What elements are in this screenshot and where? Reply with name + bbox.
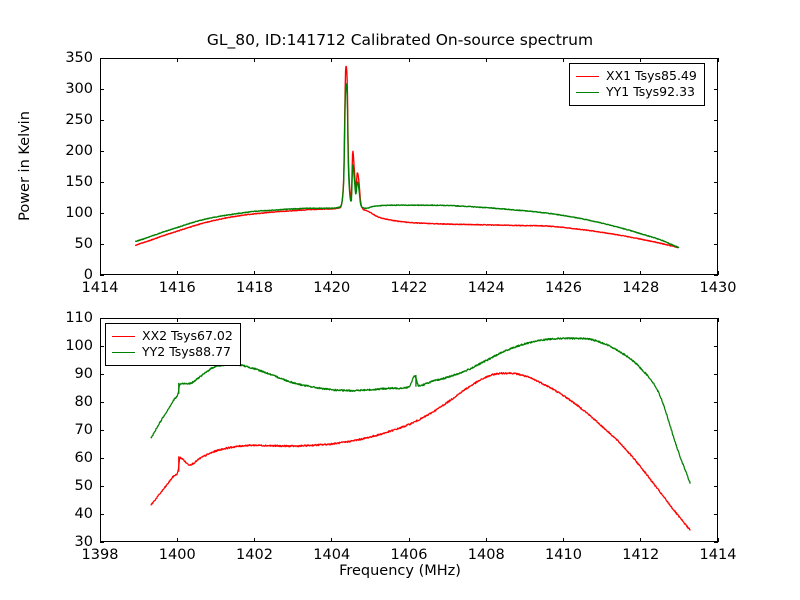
legend-entry[interactable]: YY2 Tsys88.77 [112, 344, 233, 360]
y-axis-tick [100, 346, 104, 347]
y-axis-tick [100, 182, 104, 183]
x-tick-label: 1414 [700, 547, 737, 563]
y-axis-tick [100, 244, 104, 245]
x-axis-tick [409, 538, 410, 542]
y-axis-tick [100, 430, 104, 431]
y-tick-label: 300 [48, 81, 93, 97]
y-tick-label: 90 [48, 366, 93, 382]
y-tick-label: 40 [48, 506, 93, 522]
x-axis-tick [486, 271, 487, 275]
x-tick-label: 1424 [468, 280, 505, 296]
series-line-xx [151, 373, 690, 530]
y-axis-tick [100, 374, 104, 375]
x-axis-tick [563, 271, 564, 275]
x-tick-label: 1430 [700, 280, 737, 296]
y-axis-tick [714, 430, 718, 431]
x-tick-label: 1406 [391, 547, 428, 563]
y-tick-label: 110 [48, 310, 93, 326]
y-tick-label: 60 [48, 450, 93, 466]
x-tick-label: 1428 [622, 280, 659, 296]
legend-entry[interactable]: YY1 Tsys92.33 [576, 84, 697, 100]
y-axis-tick [100, 89, 104, 90]
y-axis-tick [714, 182, 718, 183]
x-axis-tick [486, 538, 487, 542]
y-axis-tick [714, 244, 718, 245]
bottom-panel-legend[interactable]: XX2 Tsys67.02YY2 Tsys88.77 [105, 323, 241, 366]
y-axis-tick [100, 514, 104, 515]
y-tick-label: 70 [48, 422, 93, 438]
x-axis-tick [100, 318, 101, 322]
x-tick-label: 1416 [159, 280, 196, 296]
x-axis-tick [331, 318, 332, 322]
y-axis-tick [100, 151, 104, 152]
y-axis-tick [714, 58, 718, 59]
legend-color-swatch-line [112, 352, 135, 353]
y-tick-label: 250 [48, 112, 93, 128]
legend-label: XX1 Tsys85.49 [606, 68, 697, 84]
x-axis-tick [177, 318, 178, 322]
x-axis-tick [331, 58, 332, 62]
y-tick-label: 30 [48, 534, 93, 550]
legend-label: YY2 Tsys88.77 [142, 344, 231, 360]
x-tick-label: 1410 [545, 547, 582, 563]
x-axis-tick [486, 58, 487, 62]
y-axis-tick [100, 542, 104, 543]
y-axis-tick [714, 151, 718, 152]
y-axis-tick [714, 374, 718, 375]
x-tick-label: 1404 [313, 547, 350, 563]
x-axis-tick [254, 538, 255, 542]
y-tick-label: 100 [48, 205, 93, 221]
x-axis-tick [100, 58, 101, 62]
x-axis-tick [177, 271, 178, 275]
y-axis-tick [714, 402, 718, 403]
x-axis-tick [563, 58, 564, 62]
x-axis-tick [331, 271, 332, 275]
y-axis-tick [714, 89, 718, 90]
x-tick-label: 1426 [545, 280, 582, 296]
x-axis-tick [177, 58, 178, 62]
y-axis-tick [714, 458, 718, 459]
x-axis-tick [486, 318, 487, 322]
y-tick-label: 50 [48, 236, 93, 252]
figure-canvas: GL_80, ID:141712 Calibrated On-source sp… [0, 0, 800, 600]
x-tick-label: 1420 [313, 280, 350, 296]
x-axis-tick [331, 538, 332, 542]
y-axis-tick [714, 275, 718, 276]
x-tick-label: 1412 [622, 547, 659, 563]
y-axis-tick [714, 486, 718, 487]
y-tick-label: 50 [48, 478, 93, 494]
x-axis-tick [640, 58, 641, 62]
y-tick-label: 200 [48, 143, 93, 159]
y-tick-label: 0 [48, 267, 93, 283]
x-tick-label: 1402 [236, 547, 273, 563]
x-axis-tick [409, 318, 410, 322]
legend-label: YY1 Tsys92.33 [606, 84, 695, 100]
top-panel-y-axis-label: Power in Kelvin [17, 111, 33, 221]
y-tick-label: 350 [48, 50, 93, 66]
y-axis-tick [100, 275, 104, 276]
x-axis-tick [563, 318, 564, 322]
y-tick-label: 100 [48, 338, 93, 354]
legend-color-swatch-line [576, 76, 599, 77]
y-axis-tick [714, 318, 718, 319]
x-axis-tick [409, 58, 410, 62]
y-axis-tick [714, 346, 718, 347]
x-axis-tick [640, 271, 641, 275]
x-tick-label: 1400 [159, 547, 196, 563]
x-tick-label: 1422 [391, 280, 428, 296]
y-axis-tick [100, 486, 104, 487]
y-axis-tick [100, 213, 104, 214]
x-axis-tick [409, 271, 410, 275]
y-axis-tick [714, 514, 718, 515]
legend-entry[interactable]: XX1 Tsys85.49 [576, 68, 697, 84]
x-axis-tick [254, 58, 255, 62]
y-axis-tick [100, 402, 104, 403]
legend-color-swatch-line [576, 92, 599, 93]
page-title: GL_80, ID:141712 Calibrated On-source sp… [0, 31, 800, 49]
legend-label: XX2 Tsys67.02 [142, 328, 233, 344]
x-axis-tick [254, 271, 255, 275]
y-axis-tick [714, 213, 718, 214]
y-axis-tick [100, 120, 104, 121]
bottom-panel-x-axis-label: Frequency (MHz) [0, 563, 800, 579]
x-axis-tick [718, 318, 719, 322]
x-tick-label: 1408 [468, 547, 505, 563]
top-panel-legend[interactable]: XX1 Tsys85.49YY1 Tsys92.33 [569, 63, 705, 106]
x-axis-tick [718, 58, 719, 62]
x-axis-tick [254, 318, 255, 322]
y-axis-tick [100, 58, 104, 59]
y-axis-tick [714, 542, 718, 543]
y-axis-tick [100, 458, 104, 459]
legend-color-swatch-line [112, 336, 135, 337]
x-axis-tick [563, 538, 564, 542]
x-axis-tick [640, 538, 641, 542]
y-axis-tick [100, 318, 104, 319]
y-tick-label: 150 [48, 174, 93, 190]
x-axis-tick [177, 538, 178, 542]
legend-entry[interactable]: XX2 Tsys67.02 [112, 328, 233, 344]
y-tick-label: 80 [48, 394, 93, 410]
y-axis-tick [714, 120, 718, 121]
x-tick-label: 1418 [236, 280, 273, 296]
x-axis-tick [640, 318, 641, 322]
